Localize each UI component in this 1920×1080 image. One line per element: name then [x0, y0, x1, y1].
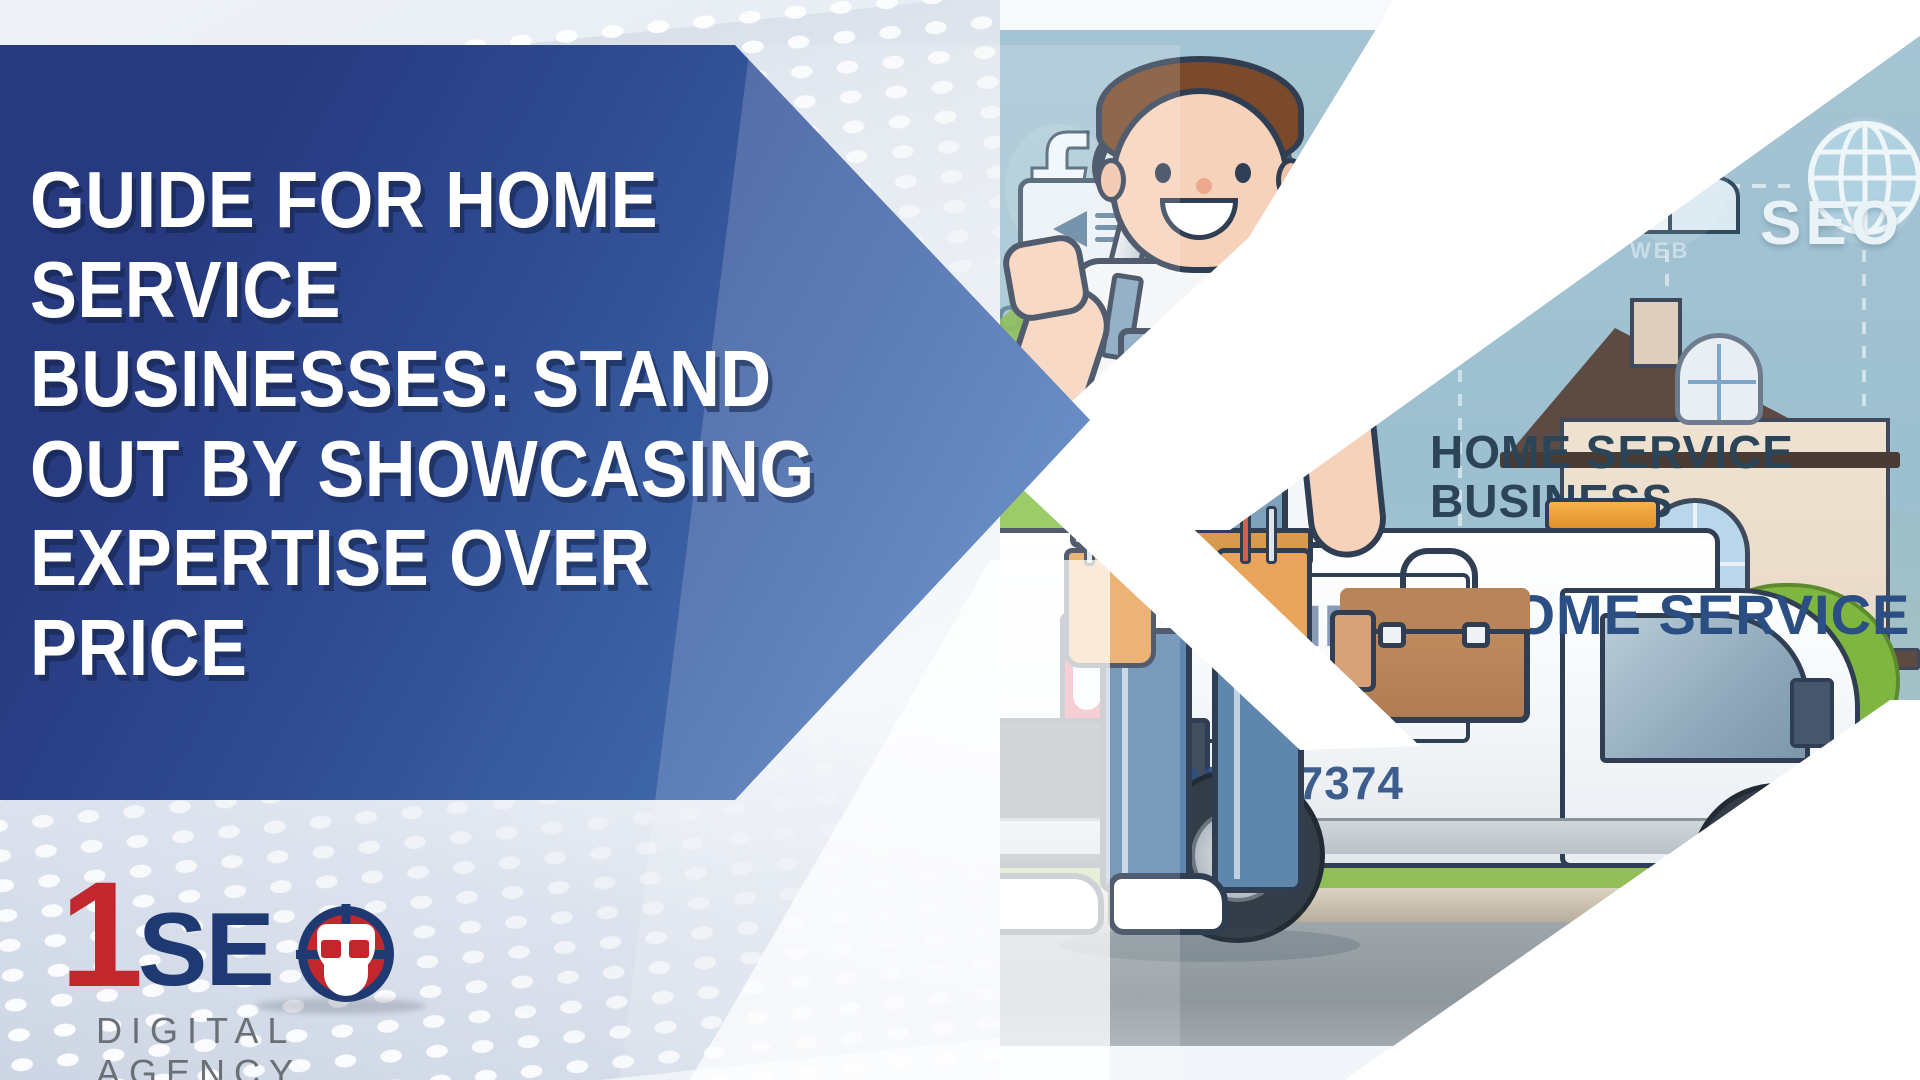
eye-right	[1235, 163, 1251, 183]
van-side-brand-text: HOME SERVICE	[1470, 588, 1910, 643]
logo-tagline: DIGITAL AGENCY	[96, 1010, 430, 1080]
logo-numeral-1: 1	[60, 870, 143, 999]
seo-watermark-text: SEO	[1760, 188, 1903, 259]
icon-label-web: WEB	[1630, 238, 1690, 264]
page-title: GUIDE FOR HOME SERVICE BUSINESSES: STAND…	[30, 155, 840, 693]
banner-canvas: SOCIAL MEDIA MARKETING WEB SEO SOCIAL MA…	[0, 0, 1920, 1080]
logo-globe-o-icon	[298, 906, 394, 1002]
house-chimney	[1630, 298, 1682, 368]
logo-word-se: SE	[138, 906, 273, 994]
toolbox-buckle	[1462, 622, 1490, 648]
logo-mark: 1 SE	[60, 870, 430, 998]
sign-badge-icon	[1675, 333, 1763, 425]
van-side-mirror	[1790, 678, 1834, 748]
nose	[1196, 178, 1212, 194]
plier-icon	[1266, 506, 1277, 564]
brand-logo[interactable]: 1 SE DIGITAL AGENCY	[60, 870, 430, 1050]
van-roof-beacon	[1545, 498, 1660, 532]
toolbox-buckle	[1378, 622, 1406, 648]
